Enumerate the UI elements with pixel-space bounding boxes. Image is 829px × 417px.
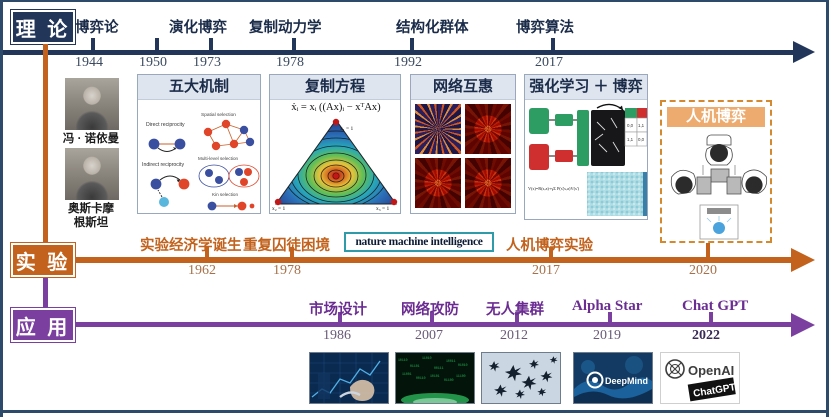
bottom-rule	[3, 410, 826, 413]
experiment-axis-arrow	[791, 248, 815, 272]
theory-axis-arrow	[793, 41, 815, 63]
portrait-morgenstern	[65, 148, 119, 200]
svg-text:0,0: 0,0	[627, 123, 634, 128]
network-pattern-2	[465, 104, 511, 154]
experiment-tick-2020	[706, 243, 710, 258]
top-rule	[3, 0, 826, 2]
network-pattern-4	[465, 158, 511, 208]
svg-text:11010: 11010	[422, 356, 432, 360]
portrait-von-neumann-image	[65, 78, 119, 130]
portrait-morgenstern-name-line1: 奥斯卡摩	[55, 202, 127, 216]
theory-year-1992: 1992	[394, 55, 422, 71]
theory-tick-1944	[91, 38, 95, 50]
svg-text:10011: 10011	[446, 359, 456, 363]
cyber-defense-illustration: 1011001101 1101000111 1001101010 1100100…	[396, 353, 474, 403]
theory-event-game-algorithm: 博弈算法	[516, 16, 574, 37]
replicator-formula: ẋᵢ = xᵢ ((Ax)ᵢ − xᵀAx)	[274, 102, 398, 113]
network-pattern-1	[415, 104, 461, 154]
theory-tick-2017	[551, 38, 555, 50]
theory-event-replicator-dynamics: 复制动力学	[249, 16, 322, 37]
image-openai-chatgpt: OpenAI ChatGPT	[660, 352, 740, 404]
svg-text:01101: 01101	[410, 364, 420, 368]
svg-text:Spatial selection: Spatial selection	[201, 112, 236, 118]
svg-text:Kin selection: Kin selection	[212, 192, 238, 197]
infographic-root: 理 论 博弈论 演化博弈 复制动力学 结构化群体 博弈算法 1944 1950 …	[0, 0, 829, 417]
experiment-year-1962: 1962	[188, 263, 216, 279]
theory-year-2017: 2017	[535, 55, 563, 71]
card-replicator-equation-body: ẋᵢ = xᵢ ((Ax)ᵢ − xᵀAx)	[270, 100, 400, 214]
theory-tick-1950	[155, 38, 159, 50]
application-year-2012: 2012	[500, 328, 528, 344]
experiment-axis	[43, 257, 793, 263]
svg-text:01100: 01100	[444, 378, 454, 382]
experiment-year-1978: 1978	[273, 263, 301, 279]
card-replicator-equation-title: 复制方程	[270, 75, 400, 100]
five-mechanisms-diagram: Direct reciprocity Indirect reciprocity …	[138, 100, 261, 214]
theory-tick-1992	[410, 38, 414, 50]
replicator-simplex-plot: x₁ = 1 x₂ = 1 x₃ = 1	[270, 116, 401, 211]
svg-text:Multi-level selection: Multi-level selection	[198, 156, 239, 161]
row-label-application: 应 用	[11, 308, 75, 342]
theory-year-1950: 1950	[139, 55, 167, 71]
image-deepmind: DeepMind	[573, 352, 653, 404]
theory-to-experiment-connector	[43, 44, 48, 260]
card-network-reciprocity-title: 网络互惠	[411, 75, 515, 100]
card-replicator-equation: 复制方程 ẋᵢ = xᵢ ((Ax)ᵢ − xᵀAx)	[269, 74, 401, 214]
experiment-event-experimental-economics: 实验经济学诞生	[140, 234, 242, 255]
application-year-2007: 2007	[415, 328, 443, 344]
human-machine-game-diagram	[667, 129, 771, 241]
svg-text:1,1: 1,1	[638, 123, 645, 128]
drone-swarm-illustration	[482, 353, 560, 403]
theory-event-evolutionary-game: 演化博弈	[169, 16, 227, 37]
card-five-mechanisms-body: Direct reciprocity Indirect reciprocity …	[138, 100, 260, 214]
card-network-reciprocity-body	[411, 100, 515, 214]
svg-text:x₂ = 1: x₂ = 1	[272, 206, 286, 211]
theory-tick-1973	[209, 38, 213, 50]
card-network-reciprocity: 网络互惠	[410, 74, 516, 214]
application-event-chat-gpt: Chat GPT	[682, 298, 748, 315]
svg-text:DeepMind: DeepMind	[605, 376, 648, 386]
experiment-event-human-machine-experiment: 人机博弈实验	[506, 234, 593, 255]
theory-tick-1978	[292, 38, 296, 50]
row-label-experiment: 实 验	[11, 243, 75, 277]
application-event-alpha-star: Alpha Star	[572, 298, 642, 315]
image-market-design	[309, 352, 389, 404]
row-label-theory: 理 论	[11, 10, 75, 44]
application-axis	[43, 322, 793, 327]
application-event-market-design: 市场设计	[309, 298, 367, 319]
svg-text:00111: 00111	[434, 366, 444, 370]
network-pattern-3	[415, 158, 461, 208]
theory-event-structured-population: 结构化群体	[396, 16, 469, 37]
theory-year-1978: 1978	[276, 55, 304, 71]
svg-text:Indirect reciprocity: Indirect reciprocity	[142, 162, 184, 168]
experiment-event-repeated-prisoners-dilemma: 重复囚徒困境	[243, 234, 330, 255]
svg-text:x₁ = 1: x₁ = 1	[340, 126, 354, 132]
card-rl-game-body: 0,01,1 1,10,0 V(s)=R(s,a)+γΣ P(s'|s,a)V(…	[525, 100, 647, 220]
market-design-illustration	[310, 353, 388, 403]
theory-event-game-theory: 博弈论	[75, 16, 119, 37]
application-event-drone-swarm: 无人集群	[486, 298, 544, 319]
svg-text:11100: 11100	[456, 374, 466, 378]
experiment-year-2020: 2020	[689, 263, 717, 279]
svg-text:1,1: 1,1	[627, 137, 634, 142]
portrait-morgenstern-image	[65, 148, 119, 200]
card-portraits: 冯 · 诺依曼 奥斯卡摩 根斯坦	[55, 78, 127, 230]
svg-text:10110: 10110	[398, 358, 408, 362]
image-cyber-defense: 1011001101 1101000111 1001101010 1100100…	[395, 352, 475, 404]
rl-game-diagram: 0,01,1 1,10,0 V(s)=R(s,a)+γΣ P(s'|s,a)V(…	[525, 100, 648, 220]
theory-year-1944: 1944	[75, 55, 103, 71]
svg-text:10101: 10101	[430, 374, 440, 378]
experiment-year-2017: 2017	[532, 263, 560, 279]
portrait-von-neumann	[65, 78, 119, 130]
card-rl-game-title: 强化学习 ＋ 博弈	[525, 75, 647, 100]
svg-text:V(s)=R(s,a)+γΣ P(s'|s,a)V(s'): V(s)=R(s,a)+γΣ P(s'|s,a)V(s')	[528, 186, 580, 192]
card-rl-game: 强化学习 ＋ 博弈	[524, 74, 648, 220]
deepmind-illustration: DeepMind	[574, 353, 652, 403]
svg-text:Direct reciprocity: Direct reciprocity	[146, 122, 185, 128]
portrait-morgenstern-name-line2: 根斯坦	[55, 216, 127, 230]
card-five-mechanisms-title: 五大机制	[138, 75, 260, 100]
nature-machine-intelligence-badge: nature machine intelligence	[344, 232, 494, 252]
application-year-1986: 1986	[323, 328, 351, 344]
svg-text:11001: 11001	[402, 372, 412, 376]
card-human-machine-game: 人机博弈	[660, 100, 772, 243]
openai-chatgpt-illustration: OpenAI ChatGPT	[661, 353, 739, 403]
card-five-mechanisms: 五大机制 Direct reciprocity Indirect recipro…	[137, 74, 261, 214]
image-drone-swarm	[481, 352, 561, 404]
theory-year-1973: 1973	[193, 55, 221, 71]
application-year-2019: 2019	[593, 328, 621, 344]
card-human-machine-game-title: 人机博弈	[667, 107, 765, 127]
application-year-2022: 2022	[692, 328, 720, 344]
svg-text:01010: 01010	[458, 363, 468, 367]
application-event-cyber-defense: 网络攻防	[401, 298, 459, 319]
svg-text:00110: 00110	[416, 376, 426, 380]
svg-text:OpenAI: OpenAI	[688, 363, 734, 378]
svg-text:x₃ = 1: x₃ = 1	[376, 206, 390, 211]
svg-text:0,0: 0,0	[638, 137, 645, 142]
portrait-von-neumann-name: 冯 · 诺依曼	[55, 132, 127, 146]
application-axis-arrow	[791, 313, 815, 337]
